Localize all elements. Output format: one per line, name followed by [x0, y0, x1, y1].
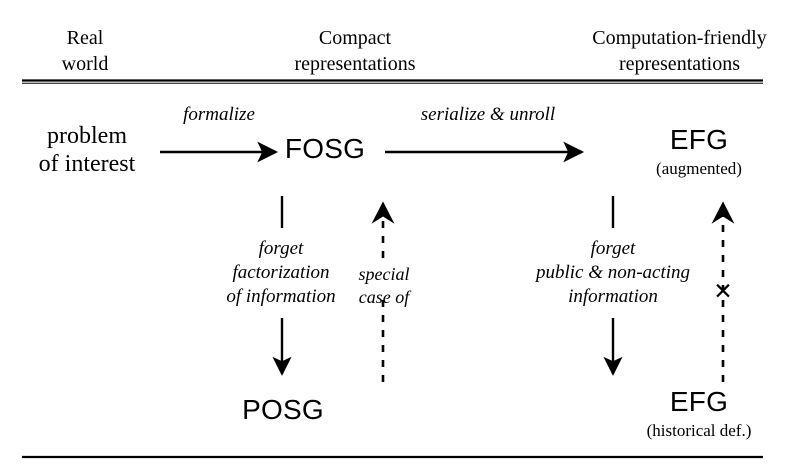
node-efg-augmented-qualifier: (augmented): [631, 159, 767, 178]
node-efg-augmented: EFG: [646, 124, 752, 155]
column-header-computational-line2: representations: [572, 52, 787, 78]
column-header-real-world: Real world: [10, 26, 160, 77]
edge-label-serialize-unroll: serialize & unroll: [396, 103, 580, 127]
edge-label-special-case-of-line1: special: [330, 263, 438, 286]
node-posg: POSG: [228, 394, 338, 425]
column-header-compact: Compact representations: [250, 26, 460, 77]
node-problem-of-interest: problem of interest: [12, 123, 162, 179]
edge-label-special-case-of: special case of: [330, 263, 438, 308]
figure-canvas: FOSG --> EFG (augmented) --> POSG (line …: [0, 0, 789, 468]
column-header-computational-line1: Computation-friendly: [572, 26, 787, 52]
node-fosg: FOSG: [272, 133, 378, 164]
node-efg-historical-qualifier: (historical def.): [616, 421, 782, 440]
column-header-real-world-line1: Real: [10, 26, 160, 52]
node-problem-of-interest-line2: of interest: [12, 151, 162, 179]
column-header-compact-line2: representations: [250, 52, 460, 78]
edge-label-special-case-of-line2: case of: [330, 286, 438, 309]
edge-label-forget-public-nonacting-line1: forget: [490, 237, 736, 261]
column-header-real-world-line2: world: [10, 52, 160, 78]
top-rule: [22, 81, 763, 84]
edge-label-forget-public-nonacting-line3: information: [490, 285, 736, 309]
edge-label-forget-public-nonacting-line2: public & non-acting: [490, 261, 736, 285]
edge-label-forget-public-nonacting: forget public & non-acting information: [490, 237, 736, 309]
column-header-computational: Computation-friendly representations: [572, 26, 787, 77]
node-efg-historical: EFG: [646, 386, 752, 417]
edge-label-formalize: formalize: [146, 103, 292, 127]
column-header-compact-line1: Compact: [250, 26, 460, 52]
edge-label-forget-factorization-line1: forget: [167, 237, 395, 261]
node-problem-of-interest-line1: problem: [12, 123, 162, 151]
